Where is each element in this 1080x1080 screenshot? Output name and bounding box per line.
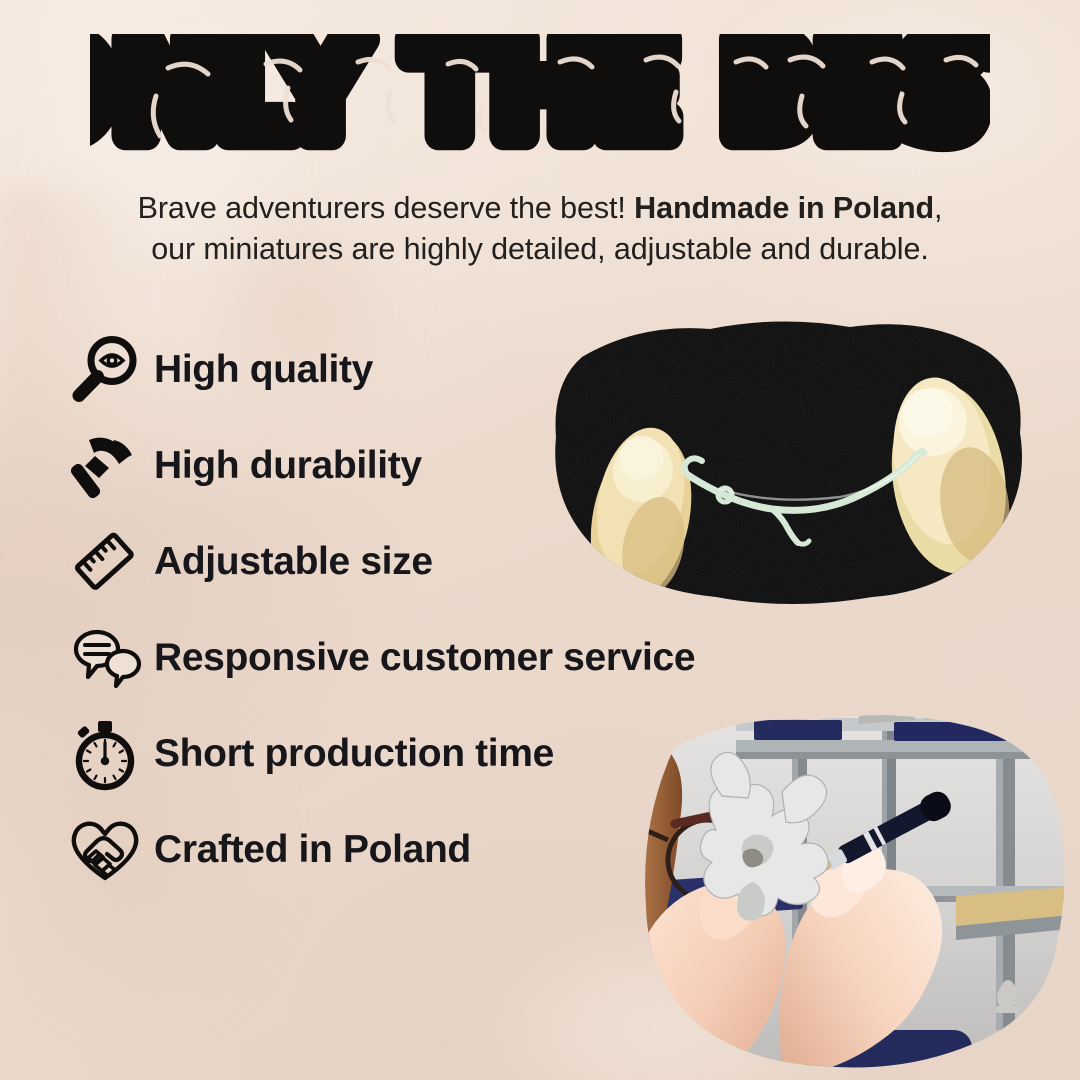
- magnifier-eye-icon: [62, 327, 148, 413]
- speech-bubbles-icon: [62, 615, 148, 701]
- subtitle-line-1-tail: ,: [934, 191, 942, 225]
- poster-canvas: .bub{font-family:"DejaVu Sans","Liberati…: [0, 0, 1080, 1080]
- page-title: .bub{font-family:"DejaVu Sans","Liberati…: [90, 34, 990, 164]
- workshop-painting-photo: [596, 700, 1080, 1080]
- ruler-icon: [62, 519, 148, 605]
- subtitle-line-1-lead: Brave adventurers deserve the best!: [138, 191, 635, 225]
- subtitle-line-2: our miniatures are highly detailed, adju…: [151, 232, 928, 266]
- subtitle: Brave adventurers deserve the best! Hand…: [70, 188, 1010, 269]
- feature-label: Crafted in Poland: [154, 828, 471, 872]
- feature-label: High quality: [154, 348, 373, 392]
- stopwatch-icon: [62, 711, 148, 797]
- handshake-heart-icon: [62, 807, 148, 893]
- miniature-chain-photo: [520, 305, 1060, 625]
- headline-container: .bub{font-family:"DejaVu Sans","Liberati…: [0, 34, 1080, 169]
- feature-label: High durability: [154, 444, 422, 488]
- subtitle-emphasis: Handmade in Poland: [634, 191, 934, 225]
- feature-label: Short production time: [154, 732, 554, 776]
- feature-label: Adjustable size: [154, 540, 433, 584]
- hammer-icon: [62, 423, 148, 509]
- feature-label: Responsive customer service: [154, 636, 695, 680]
- svg-text:ONLY THE BEST: ONLY THE BEST: [90, 34, 990, 164]
